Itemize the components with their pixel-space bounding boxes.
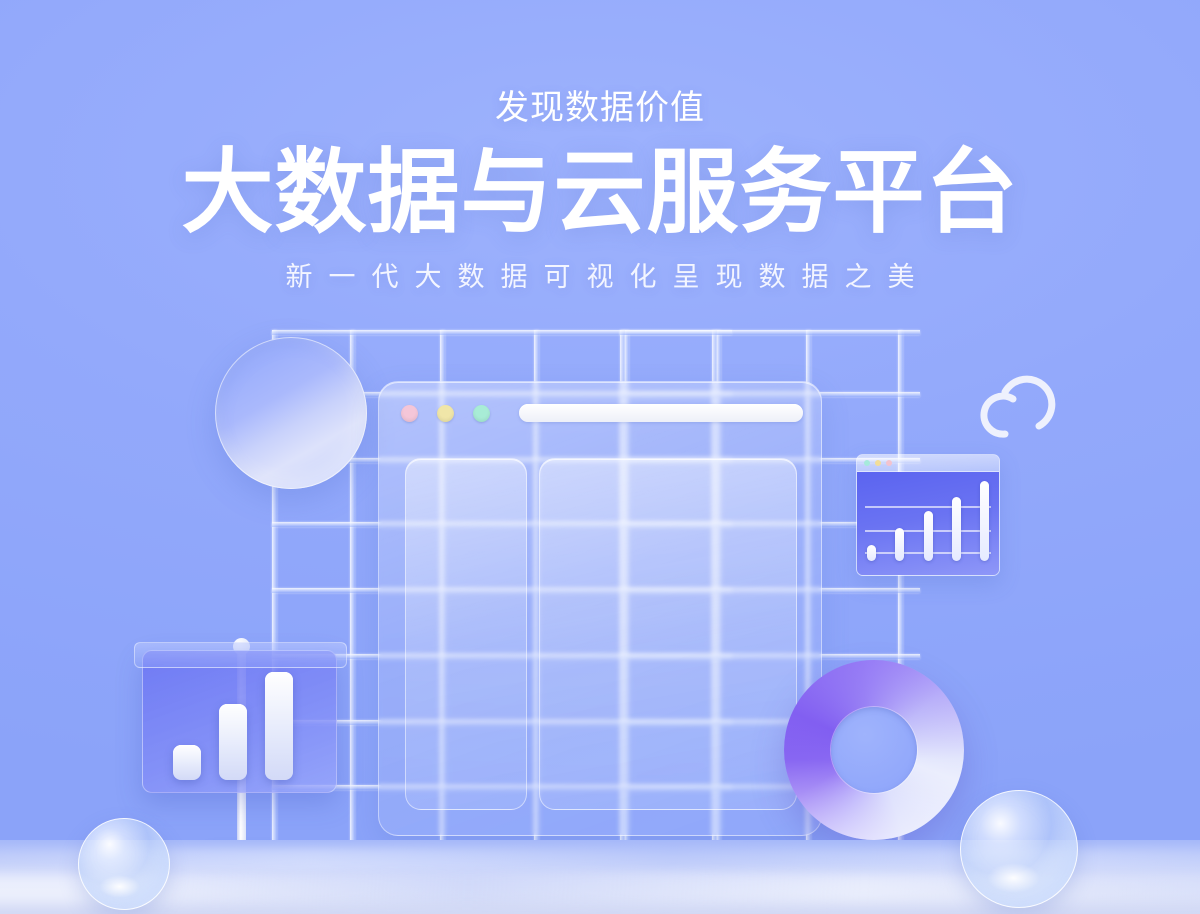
stand-bar [173,745,201,780]
minimize-dot[interactable] [437,405,454,422]
stand-bar [219,704,247,780]
cloud-icon [975,368,1067,446]
maximize-dot[interactable] [886,460,892,466]
minimize-dot[interactable] [875,460,881,466]
hero-subtitle: 新一代大数据可视化呈现数据之美 [0,255,1200,294]
maximize-dot[interactable] [473,405,490,422]
address-bar-input[interactable] [519,404,803,422]
chart-bar [867,545,876,561]
donut-chart-shape [784,660,964,840]
analytics-window[interactable] [856,454,1000,576]
hero-text-block: 发现数据价值 大数据与云服务平台 新一代大数据可视化呈现数据之美 [0,88,1200,294]
hero-eyebrow: 发现数据价值 [0,88,1200,129]
chart-bar-group [867,477,989,561]
page-title: 大数据与云服务平台 [0,145,1200,242]
stand-panel[interactable] [142,650,337,793]
close-dot[interactable] [401,405,418,422]
browser-title-bar [379,382,821,444]
close-dot[interactable] [864,460,870,466]
hero-banner: 发现数据价值 大数据与云服务平台 新一代大数据可视化呈现数据之美 [0,0,1200,914]
browser-mockup[interactable] [378,381,822,836]
chart-bar [952,497,961,561]
stand-panel-header [134,642,347,668]
analytics-title-bar [857,455,999,472]
analytics-bar-chart [857,472,999,575]
chart-bar [980,481,989,561]
stand-bar-group [173,672,313,780]
glass-sphere-right [960,790,1078,908]
glass-disc-shape [215,337,367,489]
glass-sphere-left [78,818,170,910]
chart-bar [924,511,933,561]
content-panel[interactable] [539,458,797,810]
sidebar-panel[interactable] [405,458,527,810]
chart-bar [895,528,904,561]
stand-bar [265,672,293,780]
